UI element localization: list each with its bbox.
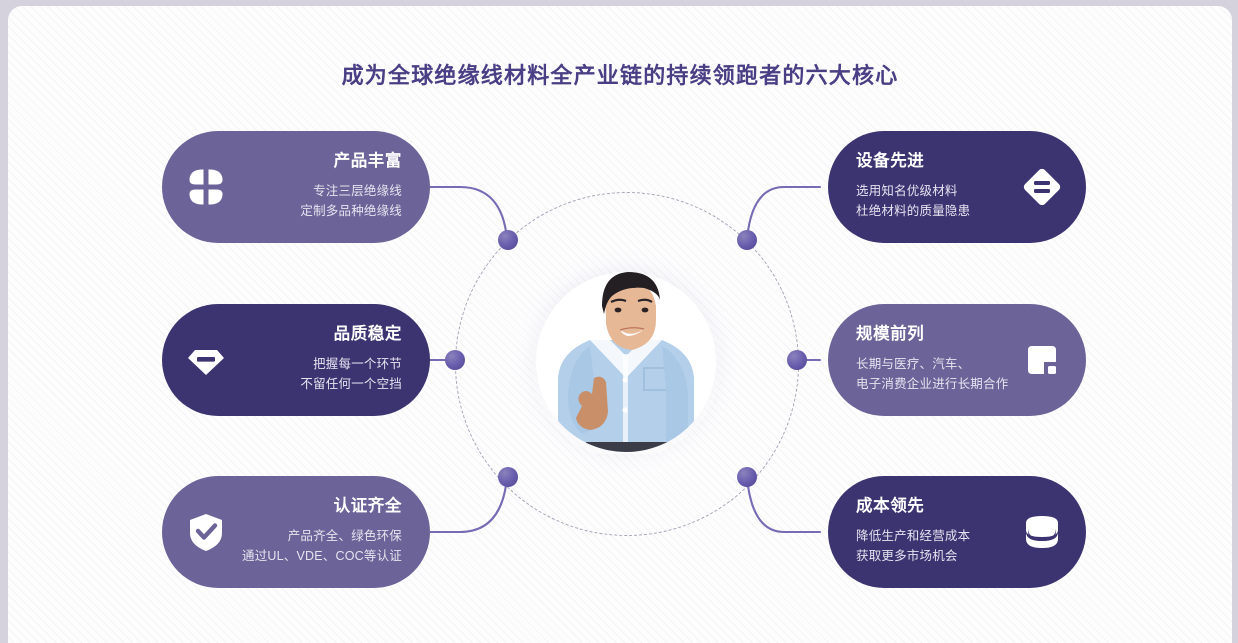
page-title: 成为全球绝缘线材料全产业链的持续领跑者的六大核心 <box>8 58 1232 90</box>
card-cert-line-1: 产品齐全、绿色环保 <box>232 526 402 546</box>
wire-equipment <box>747 187 820 239</box>
content-panel: 成为全球绝缘线材料全产业链的持续领跑者的六大核心 <box>8 6 1232 643</box>
infographic-stage: 成为全球绝缘线材料全产业链的持续领跑者的六大核心 <box>0 0 1238 643</box>
notched-square-icon <box>1016 334 1068 386</box>
card-quality-line-1: 把握每一个环节 <box>232 354 402 374</box>
node-dot-scale <box>787 350 807 370</box>
database-stack-icon <box>1016 506 1068 558</box>
card-cost[interactable]: 成本领先 降低生产和经营成本 获取更多市场机会 <box>828 476 1086 588</box>
card-cost-body: 成本领先 降低生产和经营成本 获取更多市场机会 <box>856 498 1016 566</box>
card-scale-body: 规模前列 长期与医疗、汽车、 电子消费企业进行长期合作 <box>856 326 1016 394</box>
card-scale[interactable]: 规模前列 长期与医疗、汽车、 电子消费企业进行长期合作 <box>828 304 1086 416</box>
four-petal-flower-icon <box>180 161 232 213</box>
gem-minus-icon <box>180 334 232 386</box>
node-dot-product <box>498 230 518 250</box>
node-dot-cost <box>737 467 757 487</box>
card-quality-body: 品质稳定 把握每一个环节 不留任何一个空挡 <box>232 326 408 394</box>
card-product-line-2: 定制多品种绝缘线 <box>232 201 402 221</box>
node-dot-cert <box>498 467 518 487</box>
center-photo-circle <box>536 272 716 452</box>
card-product-body: 产品丰富 专注三层绝缘线 定制多品种绝缘线 <box>232 153 408 221</box>
card-equipment[interactable]: 设备先进 选用知名优级材料 杜绝材料的质量隐患 <box>828 131 1086 243</box>
card-cert-title: 认证齐全 <box>232 498 402 515</box>
card-product-line-1: 专注三层绝缘线 <box>232 181 402 201</box>
card-quality[interactable]: 品质稳定 把握每一个环节 不留任何一个空挡 <box>162 304 430 416</box>
card-cert-line-2: 通过UL、VDE、COC等认证 <box>232 546 402 566</box>
card-cost-line-1: 降低生产和经营成本 <box>856 526 1016 546</box>
shield-check-icon <box>180 506 232 558</box>
node-dot-equipment <box>737 230 757 250</box>
node-dot-quality <box>445 350 465 370</box>
wire-product <box>422 187 507 239</box>
card-equipment-body: 设备先进 选用知名优级材料 杜绝材料的质量隐患 <box>856 153 1016 221</box>
card-equipment-line-2: 杜绝材料的质量隐患 <box>856 201 1016 221</box>
card-cert-body: 认证齐全 产品齐全、绿色环保 通过UL、VDE、COC等认证 <box>232 498 408 566</box>
card-scale-line-2: 电子消费企业进行长期合作 <box>856 374 1016 394</box>
card-product[interactable]: 产品丰富 专注三层绝缘线 定制多品种绝缘线 <box>162 131 430 243</box>
card-cost-title: 成本领先 <box>856 498 1016 515</box>
card-quality-line-2: 不留任何一个空挡 <box>232 374 402 394</box>
card-quality-title: 品质稳定 <box>232 326 402 343</box>
card-cert[interactable]: 认证齐全 产品齐全、绿色环保 通过UL、VDE、COC等认证 <box>162 476 430 588</box>
card-product-title: 产品丰富 <box>232 153 402 170</box>
diamond-bars-icon <box>1016 161 1068 213</box>
card-equipment-line-1: 选用知名优级材料 <box>856 181 1016 201</box>
card-cost-line-2: 获取更多市场机会 <box>856 546 1016 566</box>
card-equipment-title: 设备先进 <box>856 153 1016 170</box>
card-scale-line-1: 长期与医疗、汽车、 <box>856 354 1016 374</box>
card-scale-title: 规模前列 <box>856 326 1016 343</box>
wire-cert <box>422 477 507 532</box>
wire-cost <box>747 477 820 532</box>
